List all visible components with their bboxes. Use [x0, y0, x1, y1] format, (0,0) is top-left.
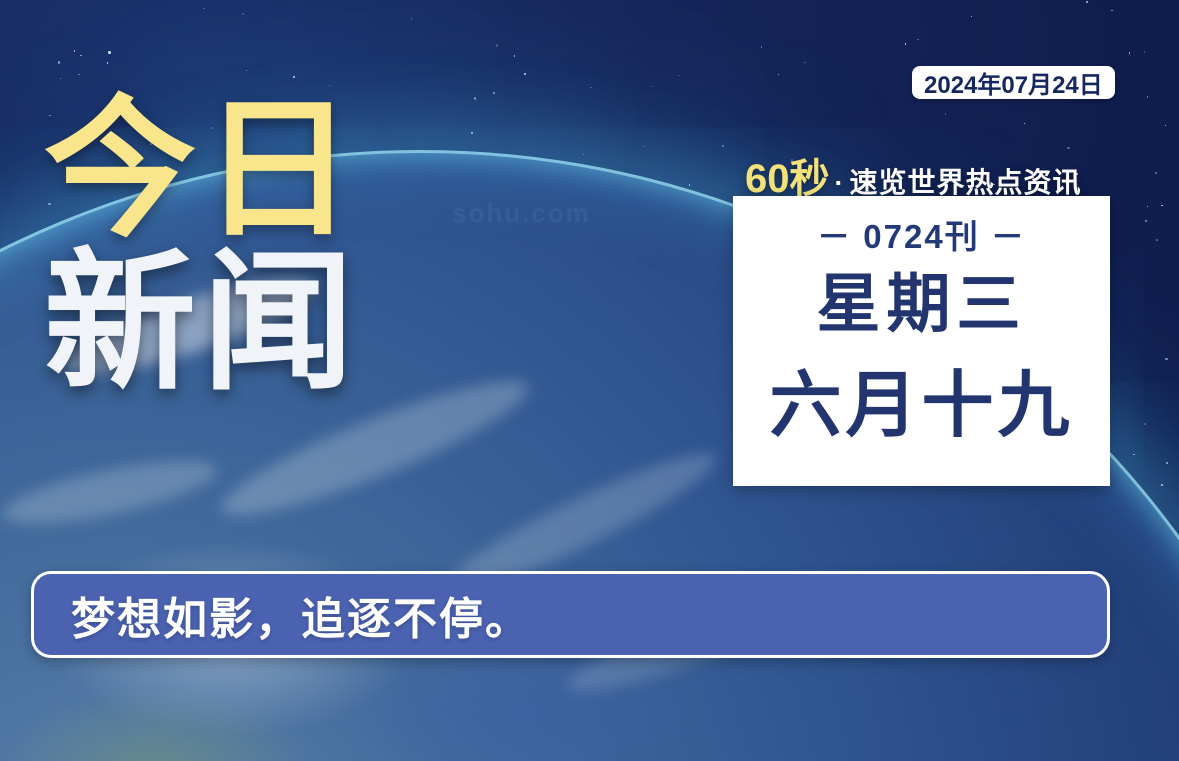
poster-headline: 今日 新闻	[44, 96, 474, 398]
slogan-text: 梦想如影，追逐不停。	[71, 583, 531, 647]
headline-line-today: 今日	[44, 96, 474, 245]
slogan-banner: 梦想如影，追逐不停。	[31, 571, 1110, 658]
issue-number: － 0724刊 －	[817, 210, 1026, 258]
poster-canvas: sohu.com 今日 新闻 2024年07月24日 60秒 · 速览世界热点资…	[0, 0, 1179, 761]
date-badge: 2024年07月24日	[912, 66, 1115, 99]
lunar-date-label: 六月十九	[769, 370, 1073, 442]
issue-info-card: － 0724刊 － 星期三 六月十九	[733, 196, 1110, 486]
headline-line-news: 新闻	[44, 249, 474, 398]
tagline-separator: ·	[835, 168, 844, 199]
tagline-text: 速览世界热点资讯	[850, 161, 1082, 201]
weekday-label: 星期三	[817, 272, 1027, 336]
